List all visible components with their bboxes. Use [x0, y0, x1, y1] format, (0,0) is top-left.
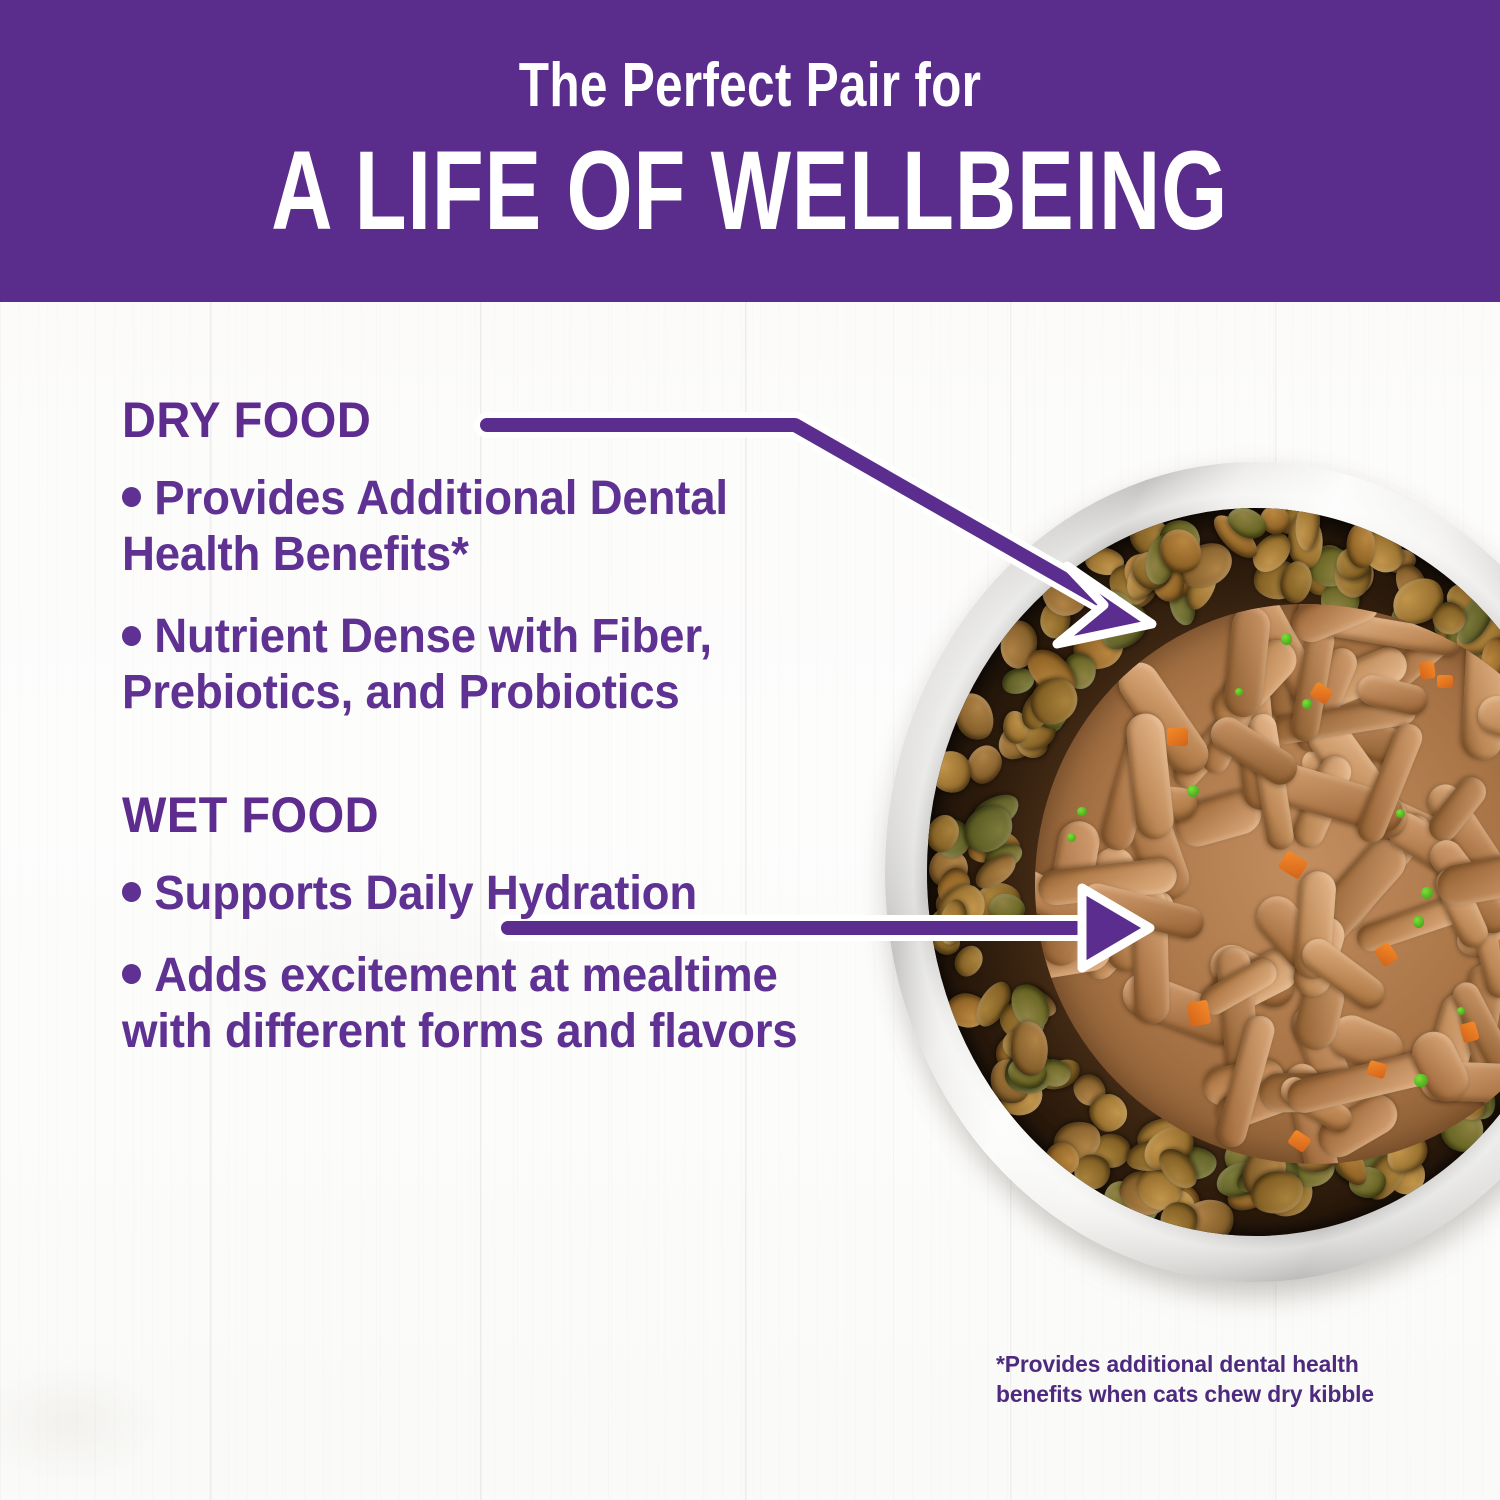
list-item: Provides Additional Dental Health Benefi…: [122, 471, 844, 583]
bullet-dot-icon: [122, 487, 141, 507]
list-item: Nutrient Dense with Fiber, Prebiotics, a…: [122, 609, 844, 721]
bullet-text: Nutrient Dense with Fiber, Prebiotics, a…: [122, 610, 712, 719]
banner-headline: A LIFE OF WELLBEING: [271, 135, 1228, 247]
header-banner: The Perfect Pair for A LIFE OF WELLBEING: [0, 0, 1500, 302]
wet-food-title: WET FOOD: [122, 790, 379, 840]
bullet-text: Adds excitement at mealtime with differe…: [122, 949, 797, 1058]
banner-eyebrow: The Perfect Pair for: [519, 55, 981, 117]
dry-food-title: DRY FOOD: [122, 395, 371, 445]
bullet-dot-icon: [122, 882, 141, 902]
list-item: Adds excitement at mealtime with differe…: [122, 948, 844, 1060]
bullet-text: Provides Additional Dental Health Benefi…: [122, 472, 728, 581]
dry-food-section-header: DRY FOOD: [122, 395, 882, 445]
wet-food-section-header: WET FOOD: [122, 790, 882, 840]
infographic-page: The Perfect Pair for A LIFE OF WELLBEING…: [0, 0, 1500, 1500]
list-item: Supports Daily Hydration: [122, 866, 844, 922]
section-spacer: [122, 748, 882, 790]
dry-food-bullets: Provides Additional Dental Health Benefi…: [122, 471, 882, 722]
bullet-dot-icon: [122, 964, 141, 984]
bullet-text: Supports Daily Hydration: [154, 867, 697, 920]
footnote-disclaimer: *Provides additional dental health benef…: [996, 1349, 1403, 1409]
food-bowl-image: [885, 462, 1500, 1307]
bowl-interior: [927, 508, 1500, 1236]
benefits-copy: DRY FOOD Provides Additional Dental Heal…: [122, 395, 882, 1086]
bullet-dot-icon: [122, 626, 141, 646]
wet-food-bullets: Supports Daily Hydration Adds excitement…: [122, 866, 882, 1060]
